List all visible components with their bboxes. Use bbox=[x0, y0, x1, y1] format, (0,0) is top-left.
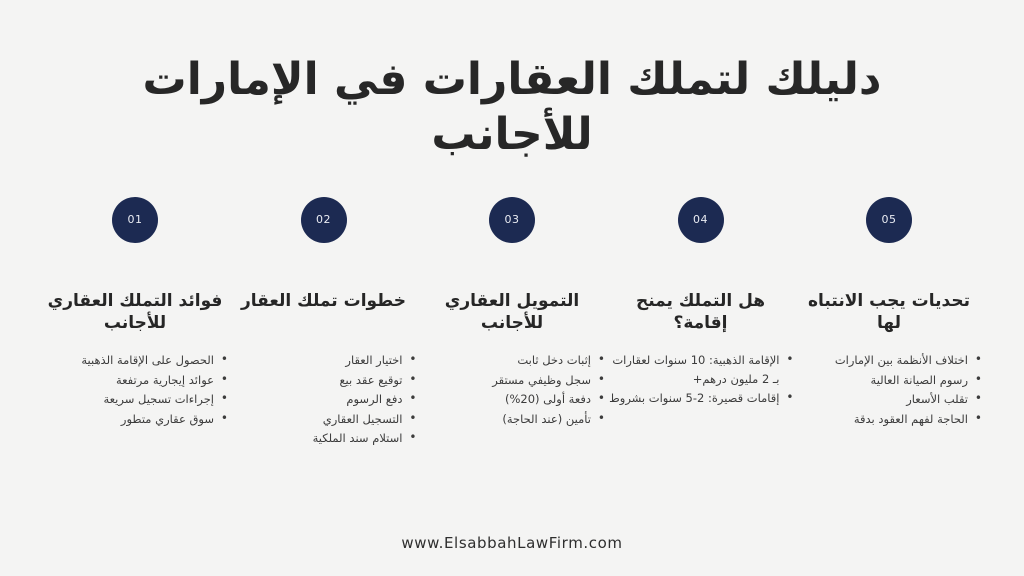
columns-container: 01 فوائد التملك العقاري للأجانب الحصول ع… bbox=[0, 197, 1024, 449]
list-item: سجل وظيفي مستقر bbox=[419, 371, 605, 390]
list-item: الإقامة الذهبية: 10 سنوات لعقارات بـ 2 م… bbox=[608, 351, 794, 388]
bullet-list-02: اختيار العقار توقيع عقد بيع دفع الرسوم ا… bbox=[231, 351, 417, 449]
bullet-list-03: إثبات دخل ثابت سجل وظيفي مستقر دفعة أولى… bbox=[419, 351, 605, 430]
step-badge-05: 05 bbox=[866, 197, 912, 243]
footer: www.ElsabbahLawFirm.com bbox=[0, 533, 1024, 552]
step-badge-02: 02 bbox=[301, 197, 347, 243]
step-badge-03: 03 bbox=[489, 197, 535, 243]
title-block: دليلك لتملك العقارات في الإمارات للأجانب bbox=[0, 0, 1024, 163]
step-badge-04: 04 bbox=[678, 197, 724, 243]
bullet-list-01: الحصول على الإقامة الذهبية عوائد إيجارية… bbox=[42, 351, 228, 430]
list-item: اختلاف الأنظمة بين الإمارات bbox=[796, 351, 982, 370]
list-item: اختيار العقار bbox=[231, 351, 417, 370]
column-heading-01: فوائد التملك العقاري للأجانب bbox=[42, 290, 228, 335]
page-title: دليلك لتملك العقارات في الإمارات للأجانب bbox=[70, 52, 954, 163]
list-item: دفع الرسوم bbox=[231, 390, 417, 409]
column-01: 01 فوائد التملك العقاري للأجانب الحصول ع… bbox=[42, 197, 228, 430]
column-03: 03 التمويل العقاري للأجانب إثبات دخل ثاب… bbox=[419, 197, 605, 430]
infographic-poster: دليلك لتملك العقارات في الإمارات للأجانب… bbox=[0, 0, 1024, 576]
bullet-list-04: الإقامة الذهبية: 10 سنوات لعقارات بـ 2 م… bbox=[608, 351, 794, 409]
bullet-list-05: اختلاف الأنظمة بين الإمارات رسوم الصيانة… bbox=[796, 351, 982, 430]
list-item: تأمين (عند الحاجة) bbox=[419, 410, 605, 429]
list-item: إثبات دخل ثابت bbox=[419, 351, 605, 370]
column-heading-04: هل التملك يمنح إقامة؟ bbox=[608, 290, 794, 335]
column-heading-03: التمويل العقاري للأجانب bbox=[419, 290, 605, 335]
list-item: إجراءات تسجيل سريعة bbox=[42, 390, 228, 409]
list-item: سوق عقاري متطور bbox=[42, 410, 228, 429]
list-item: استلام سند الملكية bbox=[231, 429, 417, 448]
list-item: توقيع عقد بيع bbox=[231, 371, 417, 390]
website-url[interactable]: www.ElsabbahLawFirm.com bbox=[401, 534, 622, 552]
column-04: 04 هل التملك يمنح إقامة؟ الإقامة الذهبية… bbox=[608, 197, 794, 409]
column-05: 05 تحديات يجب الانتباه لها اختلاف الأنظم… bbox=[796, 197, 982, 430]
list-item: رسوم الصيانة العالية bbox=[796, 371, 982, 390]
column-heading-05: تحديات يجب الانتباه لها bbox=[796, 290, 982, 335]
list-item: إقامات قصيرة: 2-5 سنوات بشروط bbox=[608, 389, 794, 408]
column-heading-02: خطوات تملك العقار bbox=[241, 290, 406, 335]
list-item: دفعة أولى (20%) bbox=[419, 390, 605, 409]
list-item: الحصول على الإقامة الذهبية bbox=[42, 351, 228, 370]
list-item: عوائد إيجارية مرتفعة bbox=[42, 371, 228, 390]
column-02: 02 خطوات تملك العقار اختيار العقار توقيع… bbox=[231, 197, 417, 449]
list-item: الحاجة لفهم العقود بدقة bbox=[796, 410, 982, 429]
list-item: التسجيل العقاري bbox=[231, 410, 417, 429]
list-item: تقلب الأسعار bbox=[796, 390, 982, 409]
step-badge-01: 01 bbox=[112, 197, 158, 243]
